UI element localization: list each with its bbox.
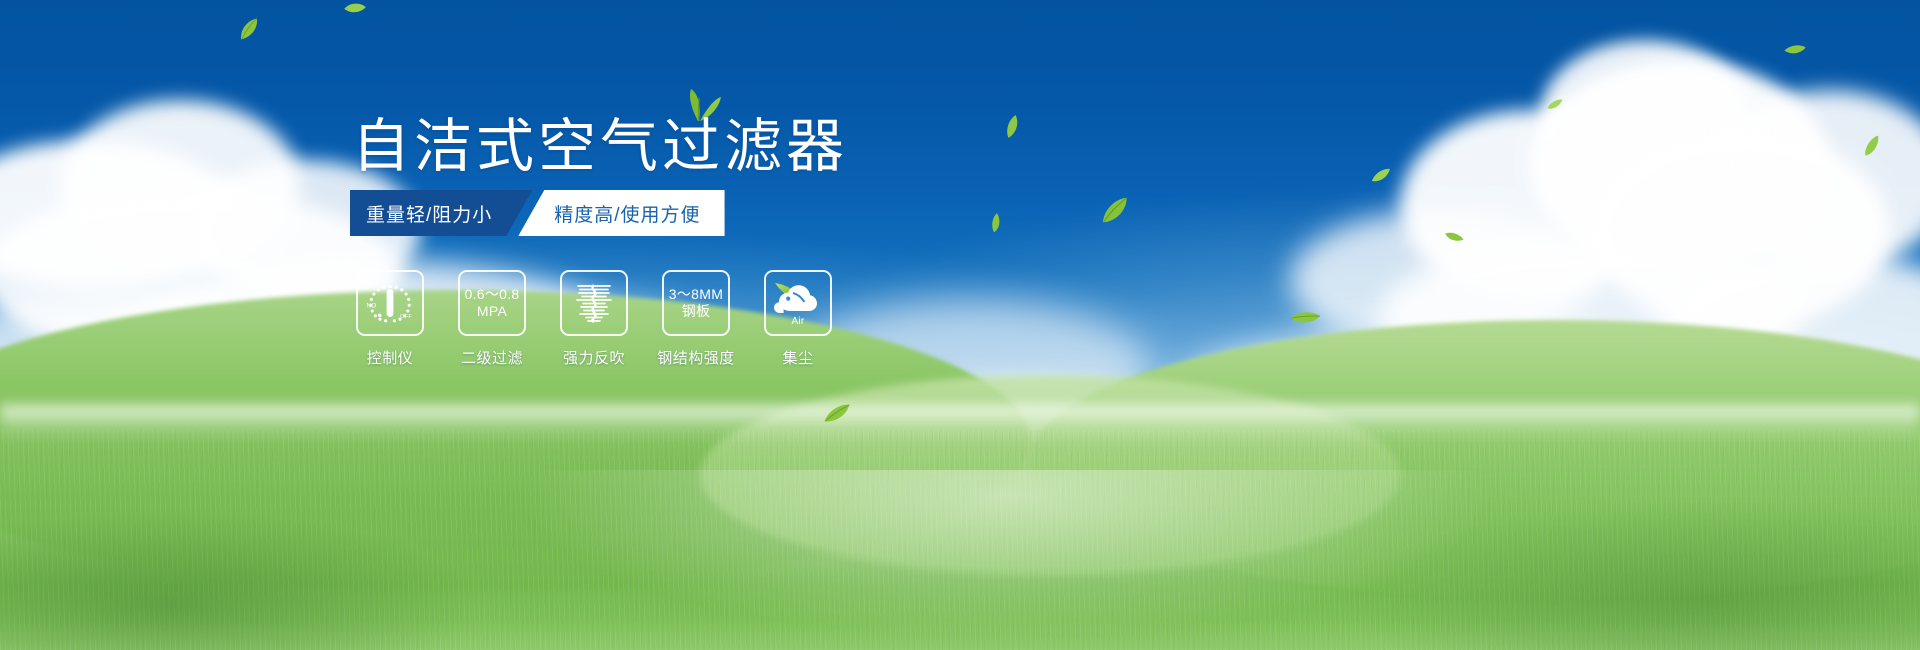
banner-content: 自洁式空气过滤器 重量轻/阻力小 精度高/使用方便 [0,0,1920,650]
feature-item-dust-collection[interactable]: Air 集尘 [764,270,832,368]
steel-plate-label: 钢板 [682,303,711,320]
blowback-coil-icon [571,280,617,326]
pressure-unit: MPA [477,303,507,320]
tab-group: 重量轻/阻力小 精度高/使用方便 [350,190,725,236]
dust-cloud-air-icon: Air [771,279,825,327]
page-title: 自洁式空气过滤器 [352,112,848,182]
pressure-value: 0.6～0.8 [464,286,519,303]
steel-plate-icon-box: 3～8MM 钢板 [662,270,730,336]
feature-label-dust-collection: 集尘 [782,347,813,368]
feature-label-steel-structure-strength: 钢结构强度 [657,347,735,368]
gauge-min-label: NO [367,303,377,310]
feature-item-steel-structure-strength[interactable]: 3～8MM 钢板 钢结构强度 [662,270,730,368]
blowback-icon-box [560,270,628,336]
feature-label-strong-blowback: 强力反吹 [563,347,625,368]
tab-high-precision-easy-use[interactable]: 精度高/使用方便 [518,190,724,236]
banner-image: 自洁式空气过滤器 重量轻/阻力小 精度高/使用方便 [0,0,1920,650]
gauge-max-label: OFF [400,314,412,320]
air-label: Air [791,316,804,327]
feature-item-strong-blowback[interactable]: 强力反吹 [560,270,628,368]
feature-label-secondary-filtration: 二级过滤 [461,347,523,368]
feature-label-controller: 控制仪 [367,347,414,368]
pressure-icon-box: 0.6～0.8 MPA [458,270,526,336]
feature-item-secondary-filtration[interactable]: 0.6～0.8 MPA 二级过滤 [458,270,526,368]
dust-collection-icon-box: Air [764,270,832,336]
feature-list: NO OFF 控制仪 0.6～0.8 MPA 二级过滤 [356,270,832,368]
controller-icon-box: NO OFF [356,270,424,336]
gauge-dial-icon: NO OFF [365,280,415,326]
feature-item-controller[interactable]: NO OFF 控制仪 [356,270,424,368]
tab-lightweight-low-resistance[interactable]: 重量轻/阻力小 [350,190,532,236]
steel-thickness-value: 3～8MM [669,286,723,303]
